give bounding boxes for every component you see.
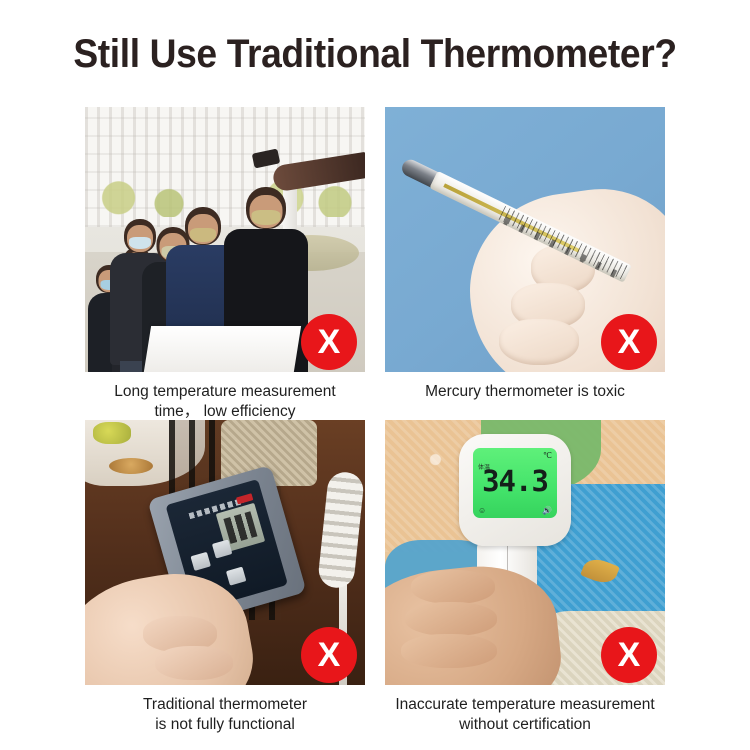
food-on-table — [93, 422, 131, 444]
status-badge-x: X — [601, 627, 657, 683]
status-badge-x: X — [301, 314, 357, 370]
card-caption: Long temperature measurement time， low e… — [85, 382, 365, 422]
comparison-grid: X Long temperature measurement time， low… — [85, 107, 665, 707]
card-inaccurate-no-certification: ℃ 体温 34.3 ☺ 🔊 X Inaccurate temperature m… — [385, 420, 665, 735]
temperature-reading: 34.3 — [473, 464, 557, 498]
card-caption: Traditional thermometer is not fully fun… — [85, 695, 365, 735]
white-counter — [143, 326, 301, 372]
coiled-probe-cable — [317, 470, 365, 589]
device-lcd-digits — [223, 511, 257, 544]
photo-hand-holding-handheld-digital-thermometer: X — [85, 420, 365, 685]
photo-infrared-forehead-thermometer-over-quilt: ℃ 体温 34.3 ☺ 🔊 X — [385, 420, 665, 685]
thermometer-head: ℃ 体温 34.3 ☺ 🔊 — [459, 434, 571, 546]
finger — [411, 570, 495, 604]
caption-line-2: without certification — [385, 715, 665, 735]
caption-line-1: Inaccurate temperature measurement — [385, 695, 665, 715]
card-long-measurement-time: X Long temperature measurement time， low… — [85, 107, 365, 422]
card-caption: Inaccurate temperature measurement witho… — [385, 695, 665, 735]
finger — [155, 646, 233, 680]
unit-label: ℃ — [543, 451, 552, 460]
page-title: Still Use Traditional Thermometer? — [26, 32, 724, 77]
device-button[interactable] — [212, 539, 232, 558]
caption-line-1: Long temperature measurement — [85, 382, 365, 402]
caption-line-2: is not fully functional — [85, 715, 365, 735]
plate — [109, 458, 153, 474]
smiley-icon: ☺ — [478, 506, 486, 515]
device-button[interactable] — [226, 567, 246, 586]
lcd-screen: ℃ 体温 34.3 ☺ 🔊 — [473, 448, 557, 518]
status-badge-x: X — [301, 627, 357, 683]
speaker-icon: 🔊 — [542, 506, 552, 515]
finger — [401, 634, 497, 668]
finger — [499, 319, 579, 365]
device-button[interactable] — [190, 552, 210, 571]
card-caption: Mercury thermometer is toxic — [385, 382, 665, 402]
card-not-fully-functional: X Traditional thermometer is not fully f… — [85, 420, 365, 735]
caption-line-1: Traditional thermometer — [85, 695, 365, 715]
caption-line-2: time， low efficiency — [85, 402, 365, 422]
photo-gloved-hand-holding-mercury-thermometer: X — [385, 107, 665, 372]
status-badge-x: X — [601, 314, 657, 370]
photo-queue-of-masked-people-temperature-check: X — [85, 107, 365, 372]
card-mercury-toxic: X Mercury thermometer is toxic — [385, 107, 665, 402]
caption-line-1: Mercury thermometer is toxic — [385, 382, 665, 402]
finger — [405, 602, 497, 636]
